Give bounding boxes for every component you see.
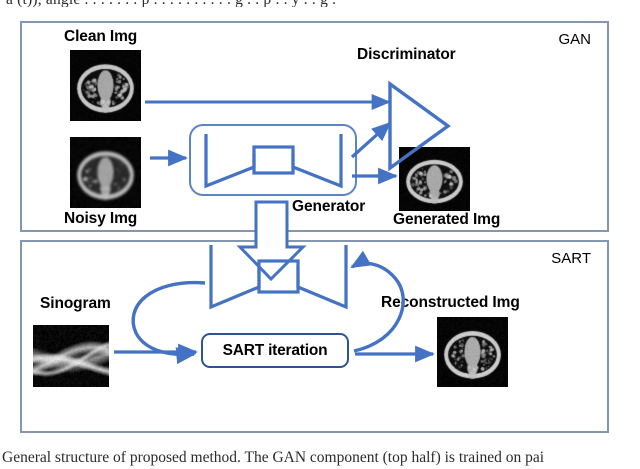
gan-panel-tag: GAN	[558, 31, 591, 48]
generated-img-thumbnail	[399, 147, 470, 211]
reconstructed-img-label: Reconstructed Img	[381, 294, 520, 312]
discriminator-label: Discriminator	[357, 46, 456, 64]
reconstructed-img-thumbnail	[437, 317, 508, 387]
sart-iteration-block: SART iteration	[201, 333, 349, 368]
sart-iteration-label: SART iteration	[203, 335, 347, 366]
noisy-img-label: Noisy Img	[64, 210, 137, 228]
generator-label: Generator	[292, 198, 365, 216]
clean-img-thumbnail	[70, 50, 141, 121]
sinogram-thumbnail	[33, 325, 109, 387]
generator-block	[189, 124, 357, 196]
figure-canvas: a (t)), angle . . . . . . . p . . . . . …	[0, 0, 640, 467]
cropped-text-above-figure: a (t)), angle . . . . . . . p . . . . . …	[6, 0, 640, 7]
figure-caption: General structure of proposed method. Th…	[2, 449, 640, 469]
clean-img-label: Clean Img	[64, 28, 137, 46]
sinogram-label: Sinogram	[40, 295, 111, 313]
generated-img-label: Generated Img	[393, 211, 500, 229]
sart-panel-tag: SART	[551, 250, 591, 267]
noisy-img-thumbnail	[70, 137, 141, 208]
